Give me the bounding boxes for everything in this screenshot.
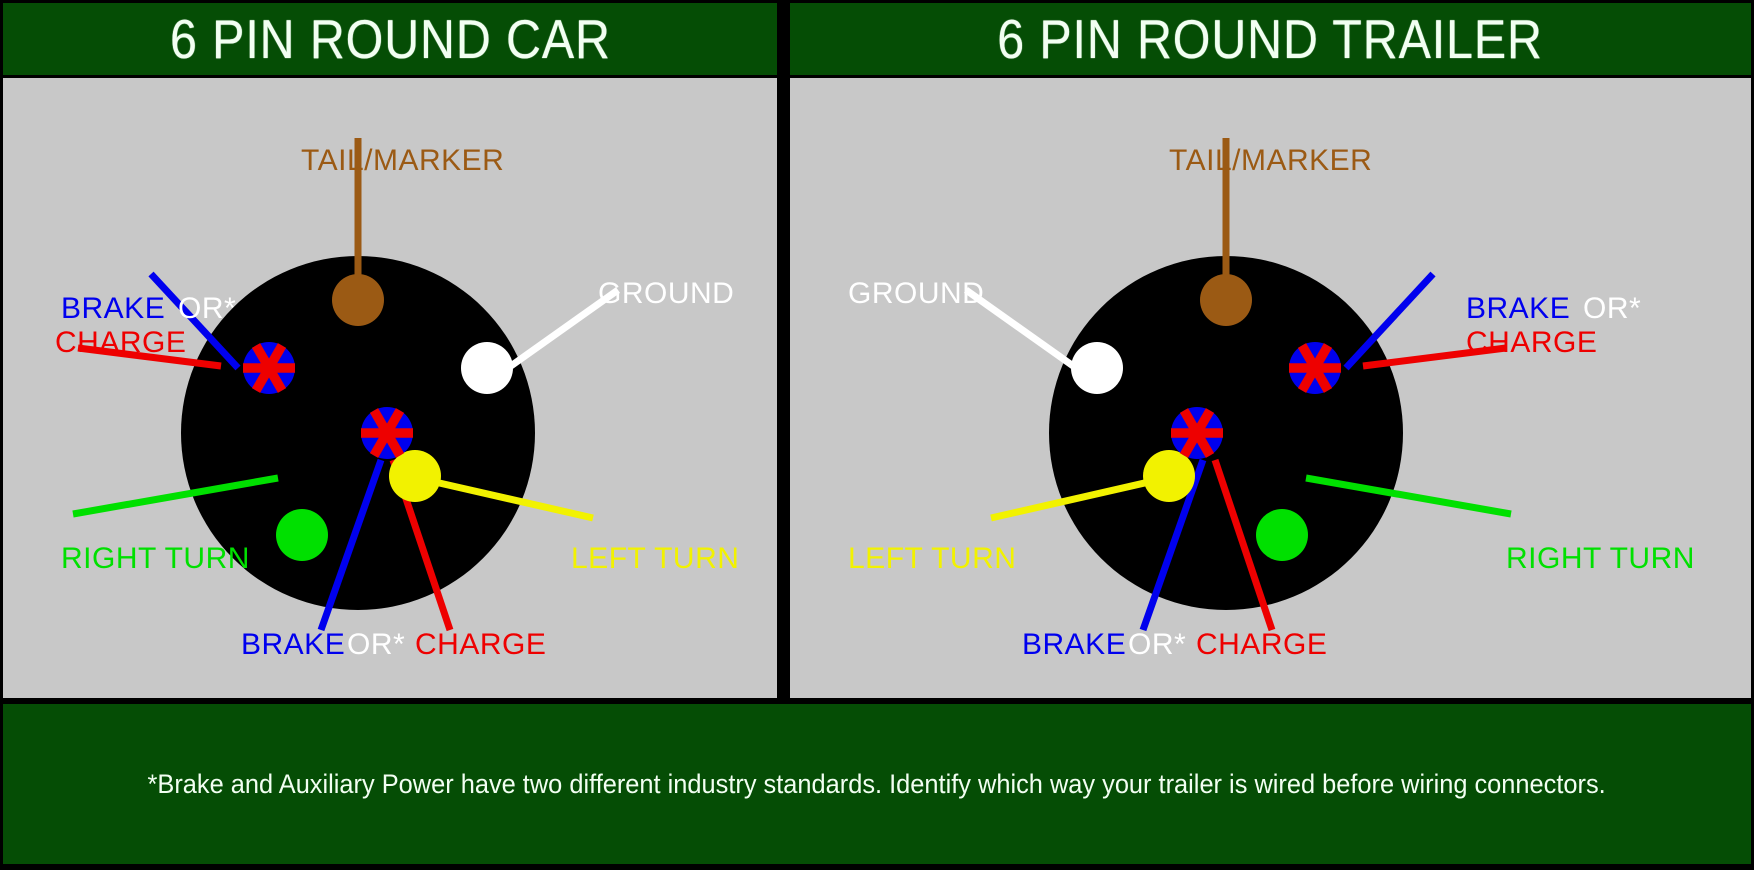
pin-right-turn-trailer[interactable]	[1256, 509, 1308, 561]
header-bar-trailer: 6 PIN ROUND TRAILER	[790, 3, 1751, 75]
pin-left-turn-trailer[interactable]	[1143, 450, 1195, 502]
car-connector-stage: TAIL/MARKER GROUND BRAKE OR* CHARGE RIGH…	[3, 78, 777, 698]
footer-bar: *Brake and Auxiliary Power have two diff…	[3, 704, 1751, 864]
label-right-turn-car: RIGHT TURN	[61, 542, 250, 575]
label-or-center-car: OR*	[347, 628, 405, 661]
label-charge-center-car: CHARGE	[415, 628, 546, 661]
wiring-diagram-page: 6 PIN ROUND CAR 6 PIN ROUND TRAILER	[0, 0, 1754, 870]
label-left-turn-trailer: LEFT TURN	[848, 542, 1016, 575]
label-charge-center-trailer: CHARGE	[1196, 628, 1327, 661]
label-or-upper-trailer: OR*	[1583, 292, 1641, 325]
label-brake-upper-car: BRAKE	[61, 292, 165, 325]
trailer-connector-stage: TAIL/MARKER GROUND BRAKE OR* CHARGE RIGH…	[790, 78, 1751, 698]
label-brake-upper-trailer: BRAKE	[1466, 292, 1570, 325]
label-or-center-trailer: OR*	[1128, 628, 1186, 661]
label-right-turn-trailer: RIGHT TURN	[1506, 542, 1695, 575]
page-title-trailer: 6 PIN ROUND TRAILER	[998, 7, 1544, 71]
pin-brake-charge-upper-car[interactable]	[243, 342, 295, 394]
header-bar-car: 6 PIN ROUND CAR	[3, 3, 777, 75]
pin-right-turn-car[interactable]	[276, 509, 328, 561]
label-ground-car: GROUND	[598, 277, 734, 310]
label-brake-center-trailer: BRAKE	[1022, 628, 1126, 661]
label-or-upper-car: OR*	[178, 292, 236, 325]
pin-tail-marker-car[interactable]	[332, 274, 384, 326]
label-tail-marker-car: TAIL/MARKER	[301, 144, 504, 177]
pin-ground-trailer[interactable]	[1071, 342, 1123, 394]
pin-brake-charge-upper-trailer[interactable]	[1289, 342, 1341, 394]
label-brake-center-car: BRAKE	[241, 628, 345, 661]
label-left-turn-car: LEFT TURN	[571, 542, 739, 575]
pin-ground-car[interactable]	[461, 342, 513, 394]
pin-brake-charge-center-trailer[interactable]	[1171, 407, 1223, 459]
pin-brake-charge-center-car[interactable]	[361, 407, 413, 459]
diagram-panel-trailer: TAIL/MARKER GROUND BRAKE OR* CHARGE RIGH…	[790, 78, 1751, 698]
page-title-car: 6 PIN ROUND CAR	[170, 7, 611, 71]
pin-tail-marker-trailer[interactable]	[1200, 274, 1252, 326]
label-tail-marker-trailer: TAIL/MARKER	[1169, 144, 1372, 177]
footer-disclaimer-text: *Brake and Auxiliary Power have two diff…	[148, 769, 1606, 800]
label-charge-upper-car: CHARGE	[55, 326, 186, 359]
diagram-panel-car: TAIL/MARKER GROUND BRAKE OR* CHARGE RIGH…	[3, 78, 777, 698]
label-ground-trailer: GROUND	[848, 277, 984, 310]
pin-left-turn-car[interactable]	[389, 450, 441, 502]
label-charge-upper-trailer: CHARGE	[1466, 326, 1597, 359]
